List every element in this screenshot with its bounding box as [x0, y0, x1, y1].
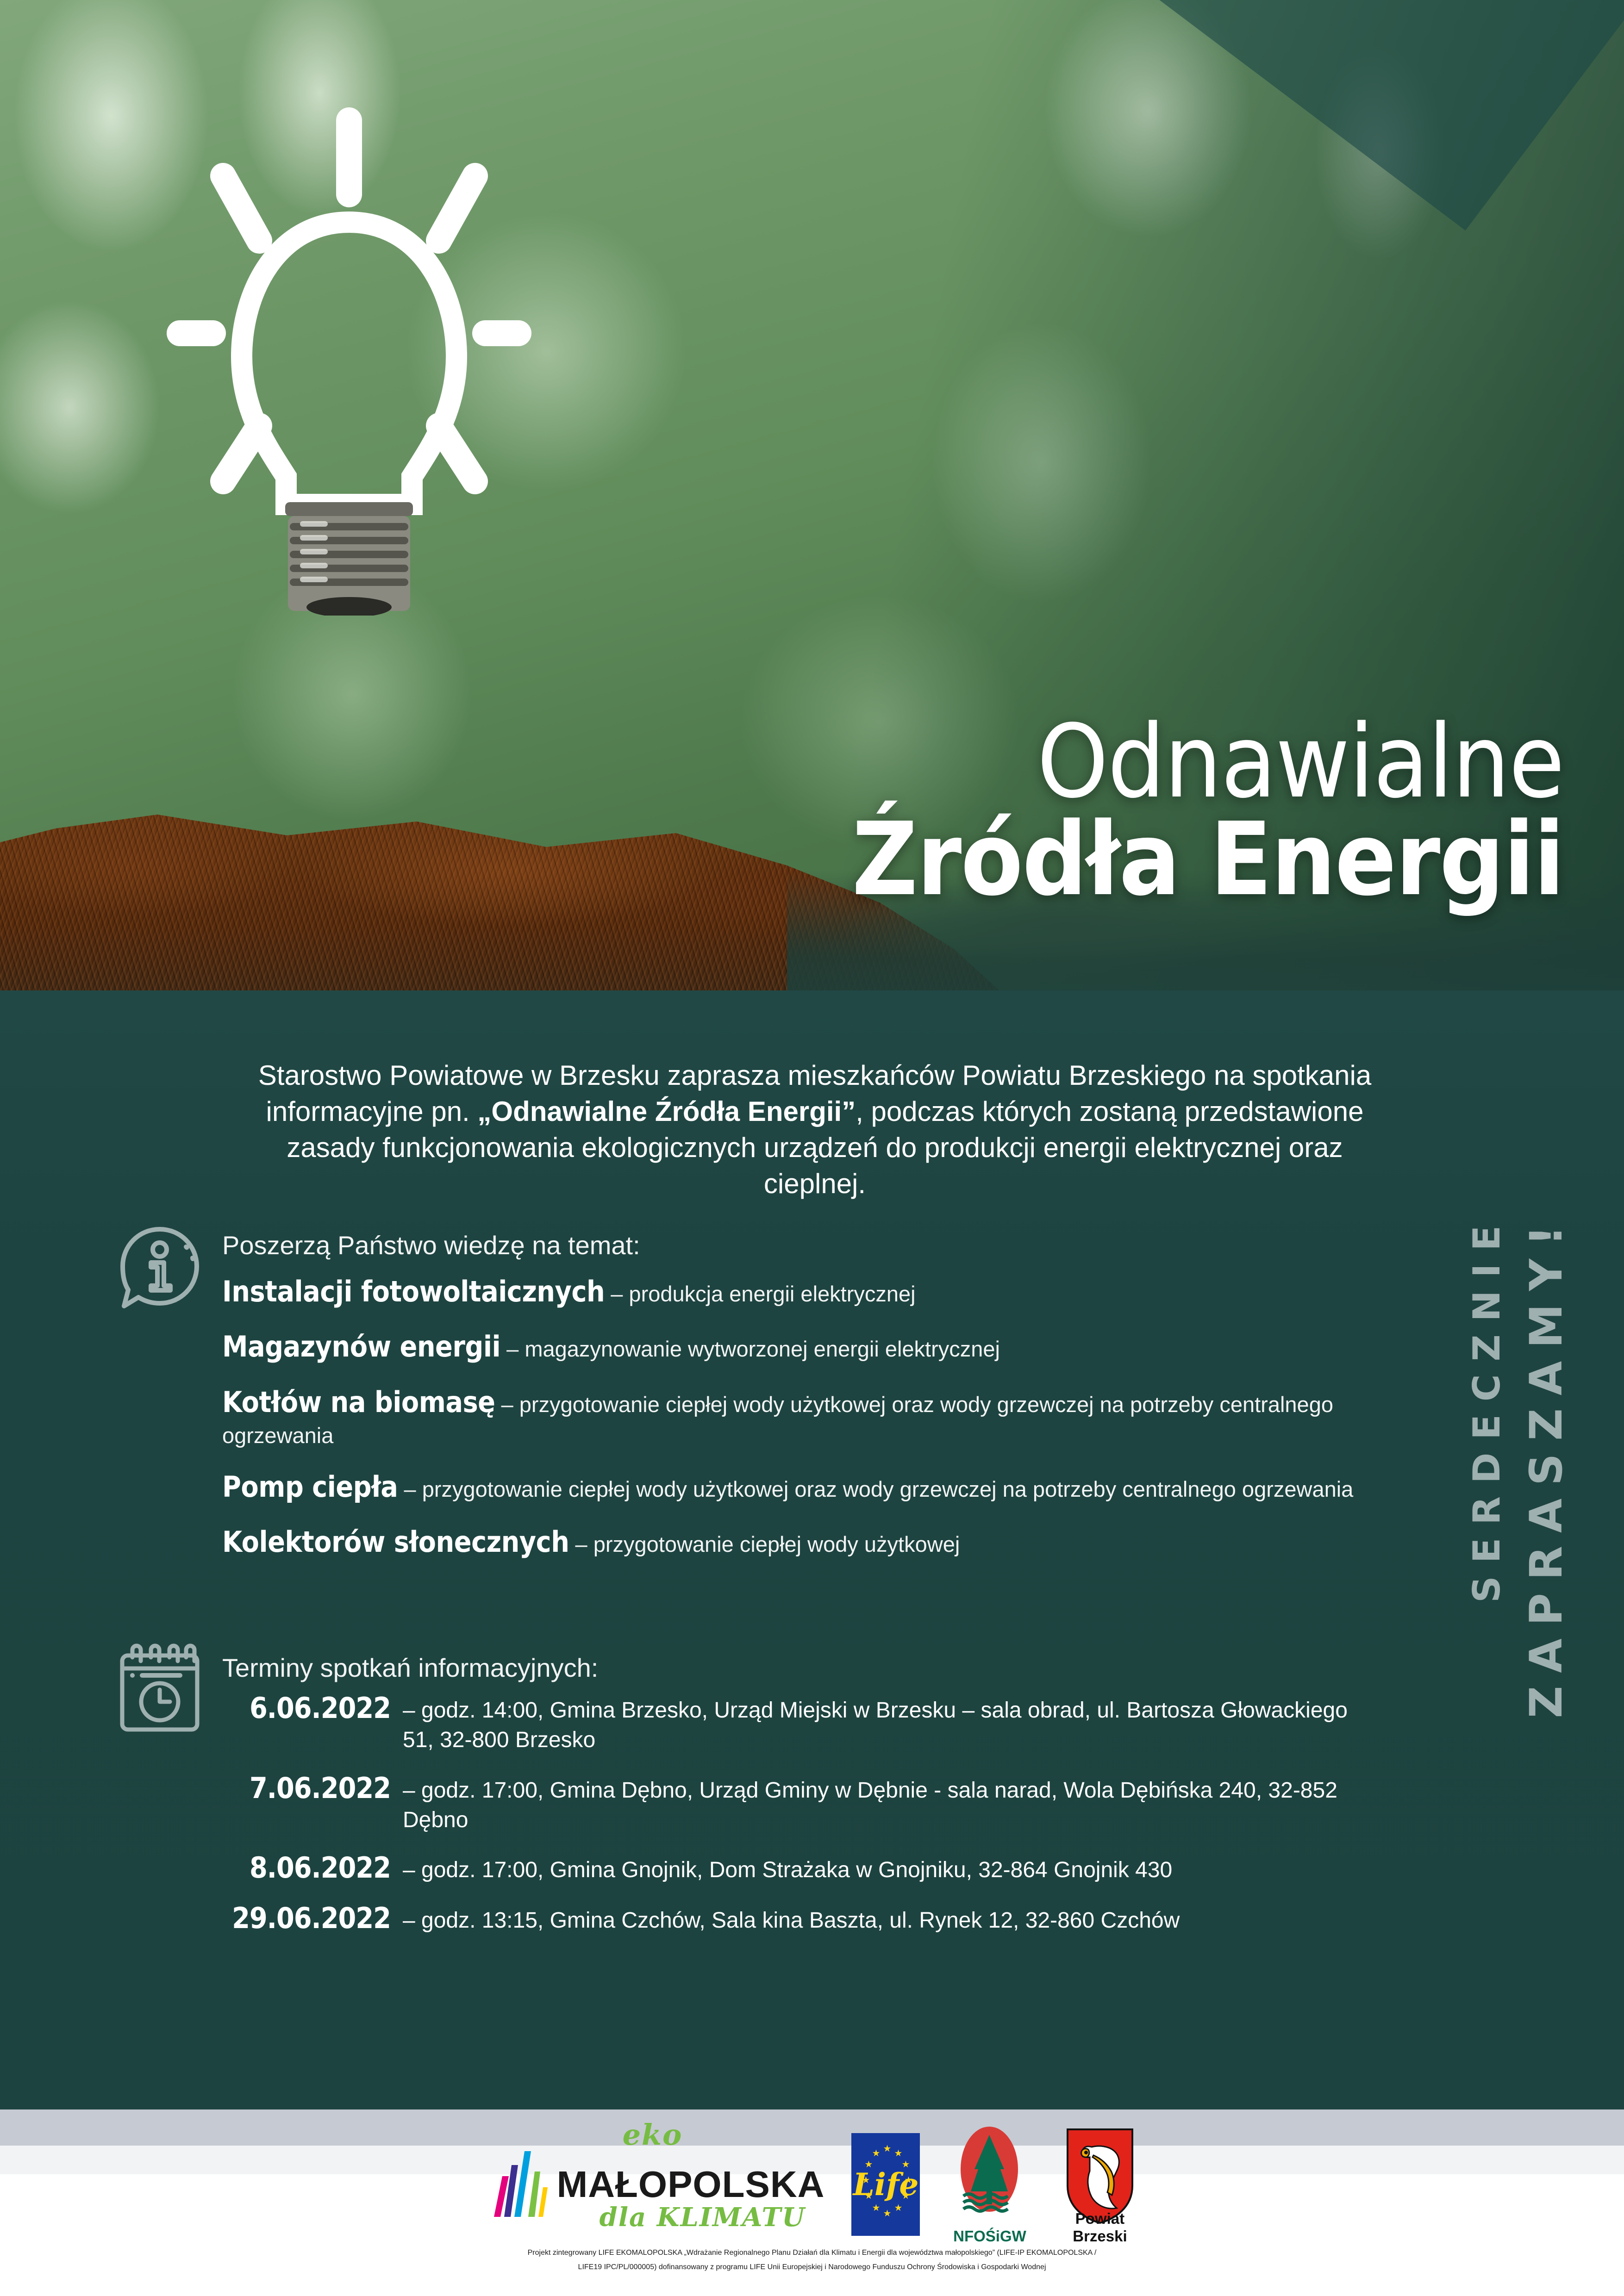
title-line-1: Odnawialne — [852, 715, 1564, 810]
topic-title: Instalacji fotowoltaicznych — [222, 1275, 605, 1308]
life-eu-logo: ★ ★ ★ ★ ★ ★ ★ ★ ★ ★ ★ ★ Life — [851, 2133, 920, 2236]
topic-title: Kotłów na biomasę — [222, 1385, 495, 1419]
schedule-date: 8.06.2022 — [222, 1851, 403, 1885]
schedule-lead: Terminy spotkań informacyjnych: — [222, 1641, 1366, 1683]
intro-paragraph: Starostwo Powiatowe w Brzesku zaprasza m… — [250, 1058, 1380, 1202]
list-item: Pomp ciepła – przygotowanie ciepłej wody… — [222, 1468, 1356, 1505]
topic-title: Pomp ciepła — [222, 1470, 398, 1504]
table-row: 29.06.2022 – godz. 13:15, Gmina Czchów, … — [222, 1901, 1366, 1935]
schedule-details: – godz. 17:00, Gmina Gnojnik, Dom Straża… — [403, 1851, 1172, 1885]
table-row: 7.06.2022 – godz. 17:00, Gmina Dębno, Ur… — [222, 1771, 1366, 1836]
schedule-date: 7.06.2022 — [222, 1771, 403, 1805]
schedule-details: – godz. 17:00, Gmina Dębno, Urząd Gminy … — [403, 1771, 1366, 1836]
list-item: Kolektorów słonecznych – przygotowanie c… — [222, 1524, 1356, 1560]
malopolska-eko-logo: eko MAŁOPOLSKA dla KLIMATU — [484, 2147, 825, 2221]
title-line-2: Źródła Energii — [852, 813, 1564, 908]
intro-quoted-title: „Odnawialne Źródła Energii” — [477, 1096, 856, 1127]
topic-title: Magazynów energii — [222, 1330, 500, 1363]
topic-desc: – przygotowanie ciepłej wody użytkowej o… — [398, 1477, 1353, 1501]
powiat-brzeski-logo: Powiat Brzeski — [1059, 2127, 1140, 2242]
topic-title: Kolektorów słonecznych — [222, 1525, 569, 1559]
lightbulb-icon — [153, 106, 546, 616]
side-banner: SERDECZNIE ZAPRASZAMY! — [1433, 1213, 1572, 2046]
schedule-details: – godz. 14:00, Gmina Brzesko, Urząd Miej… — [403, 1691, 1366, 1755]
nfosigw-label: NFOŚiGW — [947, 2228, 1032, 2245]
fineprint-line-2: LIFE19 IPC/PL/000005) dofinansowany z pr… — [0, 2260, 1624, 2274]
topics-list: Instalacji fotowoltaicznych – produkcja … — [222, 1273, 1356, 1561]
life-label: Life — [853, 2166, 919, 2203]
schedule-date: 29.06.2022 — [222, 1901, 403, 1935]
topic-desc: – przygotowanie ciepłej wody użytkowej — [569, 1532, 960, 1556]
schedule-details: – godz. 13:15, Gmina Czchów, Sala kina B… — [403, 1901, 1180, 1935]
footer-logos: eko MAŁOPOLSKA dla KLIMATU ★ ★ ★ ★ ★ ★ ★… — [0, 2115, 1624, 2254]
poster-root: Odnawialne Źródła Energii Starostwo Powi… — [0, 0, 1624, 2296]
malopolska-m-mark — [484, 2147, 553, 2221]
topics-lead: Poszerzą Państwo wiedzę na temat: — [222, 1222, 1356, 1260]
side-banner-line-2: ZAPRASZAMY! — [1520, 1213, 1572, 1718]
poster-title: Odnawialne Źródła Energii — [852, 715, 1564, 908]
table-row: 6.06.2022 – godz. 14:00, Gmina Brzesko, … — [222, 1691, 1366, 1755]
dla-klimatu-label: dla KLIMATU — [600, 2202, 806, 2233]
schedule-date: 6.06.2022 — [222, 1691, 403, 1725]
eko-script-label: eko — [623, 2118, 683, 2152]
fineprint-line-1: Projekt zintegrowany LIFE EKOMALOPOLSKA … — [0, 2246, 1624, 2260]
malopolska-wordmark: MAŁOPOLSKA — [557, 2163, 825, 2206]
schedule-section: Terminy spotkań informacyjnych: 6.06.202… — [116, 1641, 1366, 1951]
list-item: Magazynów energii – magazynowanie wytwor… — [222, 1328, 1356, 1365]
table-row: 8.06.2022 – godz. 17:00, Gmina Gnojnik, … — [222, 1851, 1366, 1885]
schedule-list: 6.06.2022 – godz. 14:00, Gmina Brzesko, … — [222, 1691, 1366, 1935]
side-banner-line-1: SERDECZNIE — [1465, 1213, 1508, 1603]
info-speech-bubble-icon — [116, 1222, 204, 1314]
topic-desc: – produkcja energii elektrycznej — [605, 1282, 915, 1306]
topic-desc: – magazynowanie wytworzonej energii elek… — [500, 1337, 1000, 1361]
fineprint: Projekt zintegrowany LIFE EKOMALOPOLSKA … — [0, 2246, 1624, 2274]
nfosigw-logo: NFOŚiGW — [947, 2127, 1032, 2242]
calendar-clock-icon — [116, 1641, 204, 1733]
powiat-brzeski-label: Powiat Brzeski — [1053, 2210, 1147, 2245]
topics-section: Poszerzą Państwo wiedzę na temat: Instal… — [116, 1222, 1356, 1579]
list-item: Kotłów na biomasę – przygotowanie ciepłe… — [222, 1384, 1356, 1450]
list-item: Instalacji fotowoltaicznych – produkcja … — [222, 1273, 1356, 1310]
nfosigw-mark — [947, 2127, 1032, 2226]
